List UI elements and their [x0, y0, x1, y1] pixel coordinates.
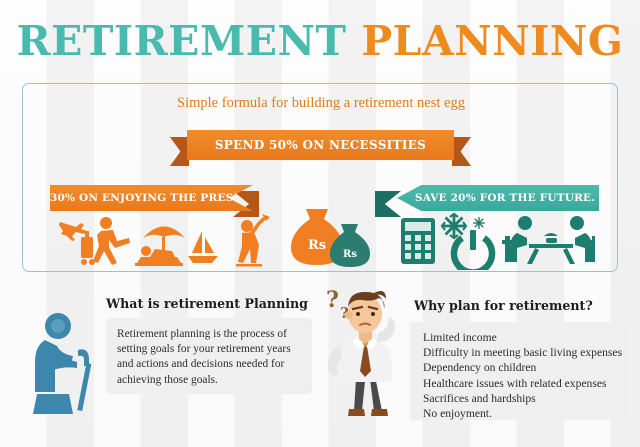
power-button-icon: [454, 230, 492, 270]
beach-umbrella-lounger-icon: [135, 227, 185, 267]
dining-couple-icon: [502, 216, 595, 264]
list-item: No enjoyment.: [423, 406, 629, 421]
ribbon-label: 30% ON ENJOYING THE PRESENT: [50, 185, 236, 211]
calculator-icon: [401, 218, 435, 264]
why-reasons-list: Limited income Difficulty in meeting bas…: [410, 322, 629, 421]
list-item: Limited income: [423, 330, 629, 345]
svg-text:?: ?: [326, 287, 339, 313]
ribbon-tail-right: [452, 137, 471, 166]
list-item: Healthcare issues with related expenses: [423, 376, 629, 391]
ribbon-band: 30% ON ENJOYING THE PRESENT: [50, 185, 253, 211]
traveler-with-luggage-icon: [81, 217, 130, 265]
ribbon-band: SAVE 20% FOR THE FUTURE.: [397, 185, 599, 211]
what-section-heading: What is retirement Planning: [106, 296, 308, 311]
ribbon-label: SPEND 50% ON NECESSITIES: [187, 130, 454, 160]
ribbon-band: SPEND 50% ON NECESSITIES: [187, 130, 454, 160]
page-title-part-two: PLANNING: [361, 17, 623, 65]
card-subtitle: Simple formula for building a retirement…: [23, 95, 619, 112]
ribbon-save-future: SAVE 20% FOR THE FUTURE.: [375, 185, 599, 211]
why-section-heading: Why plan for retirement?: [414, 298, 593, 313]
confused-businessman-icon: ? ?: [316, 287, 414, 420]
sailboat-icon: [188, 231, 218, 263]
ribbon-spend-necessities: SPEND 50% ON NECESSITIES: [170, 130, 471, 160]
page-title-part-one: RETIREMENT: [17, 17, 347, 65]
list-item: Dependency on children: [423, 360, 629, 375]
ribbon-label: SAVE 20% FOR THE FUTURE.: [397, 185, 599, 211]
money-bag-small-label: Rs: [343, 249, 357, 260]
what-section-body: Retirement planning is the process of se…: [106, 318, 312, 388]
money-bags-group: Rs Rs: [288, 209, 376, 271]
snowflake-icon: [442, 214, 485, 238]
leisure-icons-group: [51, 213, 283, 271]
golfer-icon: [236, 214, 270, 267]
money-bag-large-label: Rs: [308, 238, 326, 253]
list-item: Sacrifices and hardships: [423, 391, 629, 406]
future-icons-group: [399, 212, 595, 270]
ribbon-fold: [375, 191, 401, 217]
why-section-box: Limited income Difficulty in meeting bas…: [410, 322, 629, 420]
ribbon-enjoy-present: 30% ON ENJOYING THE PRESENT: [50, 185, 270, 211]
infographic-page: RETIREMENT PLANNING Simple formula for b…: [0, 0, 640, 447]
elderly-person-with-cane-icon: [33, 306, 107, 414]
page-title: RETIREMENT PLANNING: [0, 17, 640, 65]
list-item: Difficulty in meeting basic living expen…: [423, 345, 629, 360]
what-section-box: Retirement planning is the process of se…: [106, 318, 312, 394]
formula-card: Simple formula for building a retirement…: [22, 83, 618, 272]
